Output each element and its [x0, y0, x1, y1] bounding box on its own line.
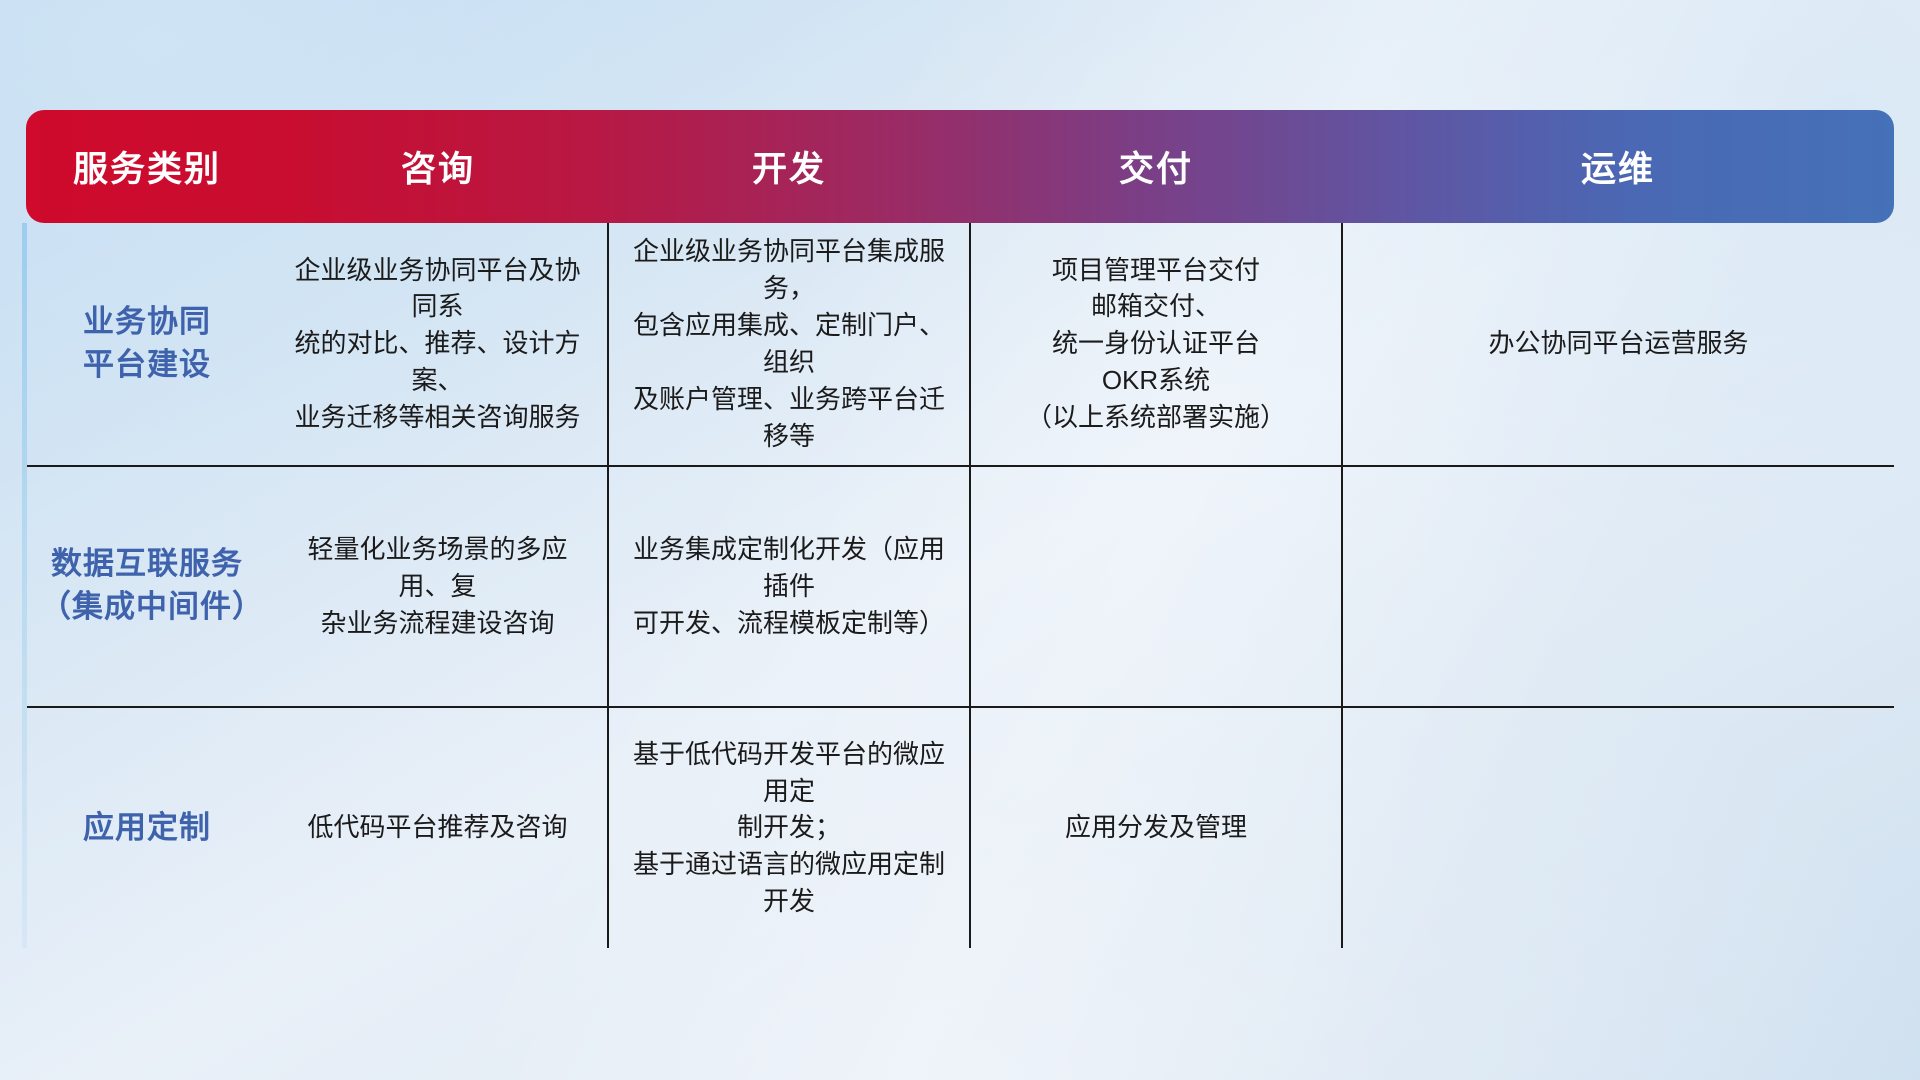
- service-table: 服务类别 咨询 开发 交付 运维: [26, 110, 1894, 948]
- cell-development-row1: 企业级业务协同平台集成服务， 包含应用集成、定制门户、组织 及账户管理、业务跨平…: [608, 223, 970, 466]
- column-header-delivery: 交付: [970, 110, 1342, 223]
- column-header-consulting-label: 咨询: [401, 150, 475, 189]
- table-left-edge-strip: [22, 223, 27, 948]
- cell-operations-row2: [1342, 466, 1894, 707]
- cell-consulting-row3: 低代码平台推荐及咨询: [268, 707, 608, 948]
- cell-consulting-row1: 企业级业务协同平台及协同系 统的对比、推荐、设计方案、 业务迁移等相关咨询服务: [268, 223, 608, 466]
- row-label-business-collaboration: 业务协同 平台建设: [26, 223, 268, 466]
- cell-development-row2: 业务集成定制化开发（应用插件 可开发、流程模板定制等）: [608, 466, 970, 707]
- cell-delivery-row2: [970, 466, 1342, 707]
- slide-canvas: 服务类别 咨询 开发 交付 运维: [0, 0, 1920, 1080]
- cell-delivery-row3: 应用分发及管理: [970, 707, 1342, 948]
- cell-development-row3: 基于低代码开发平台的微应用定 制开发； 基于通过语言的微应用定制开发: [608, 707, 970, 948]
- cell-delivery-row1: 项目管理平台交付 邮箱交付、 统一身份认证平台 OKR系统 （以上系统部署实施）: [970, 223, 1342, 466]
- row-label-data-integration: 数据互联服务 （集成中间件）: [26, 466, 268, 707]
- column-header-consulting: 咨询: [268, 110, 608, 223]
- column-header-category-label: 服务类别: [73, 150, 221, 189]
- cell-operations-row3: [1342, 707, 1894, 948]
- column-header-operations-label: 运维: [1581, 150, 1655, 189]
- table-body: 业务协同 平台建设 企业级业务协同平台及协同系 统的对比、推荐、设计方案、 业务…: [26, 223, 1894, 948]
- service-matrix-table: 服务类别 咨询 开发 交付 运维: [26, 110, 1894, 948]
- row-label-application-customization: 应用定制: [26, 707, 268, 948]
- table-header: 服务类别 咨询 开发 交付 运维: [26, 110, 1894, 223]
- table-header-row: 服务类别 咨询 开发 交付 运维: [26, 110, 1894, 223]
- column-header-development-label: 开发: [752, 150, 826, 189]
- table-row: 应用定制 低代码平台推荐及咨询 基于低代码开发平台的微应用定 制开发； 基于通过…: [26, 707, 1894, 948]
- cell-operations-row1: 办公协同平台运营服务: [1342, 223, 1894, 466]
- column-header-development: 开发: [608, 110, 970, 223]
- table-row: 数据互联服务 （集成中间件） 轻量化业务场景的多应用、复 杂业务流程建设咨询 业…: [26, 466, 1894, 707]
- cell-consulting-row2: 轻量化业务场景的多应用、复 杂业务流程建设咨询: [268, 466, 608, 707]
- column-header-operations: 运维: [1342, 110, 1894, 223]
- column-header-delivery-label: 交付: [1119, 150, 1193, 189]
- column-header-category: 服务类别: [26, 110, 268, 223]
- table-row: 业务协同 平台建设 企业级业务协同平台及协同系 统的对比、推荐、设计方案、 业务…: [26, 223, 1894, 466]
